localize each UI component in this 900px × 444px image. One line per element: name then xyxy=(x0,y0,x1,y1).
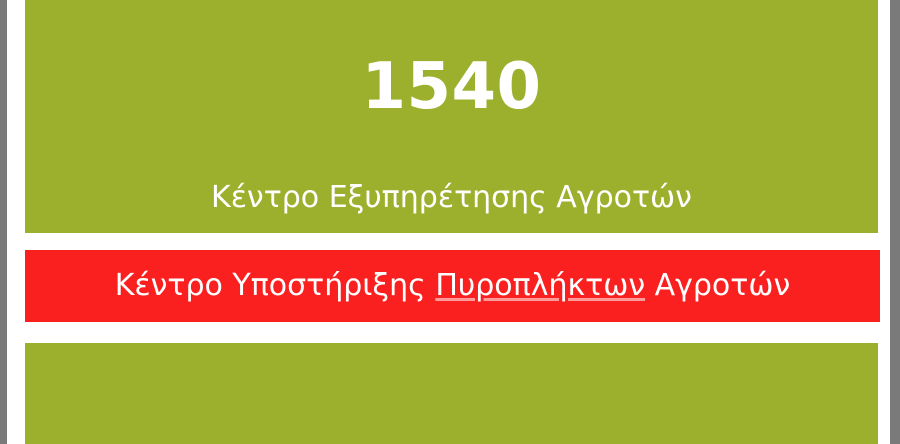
separator-below-alert xyxy=(25,322,878,343)
page-canvas: 1540 Κέντρο Εξυπηρέτησης Αγροτών Κέντρο … xyxy=(7,0,890,444)
hero-phone-number: 1540 xyxy=(361,47,541,127)
window-frame-rail-right[interactable] xyxy=(890,0,900,444)
lower-banner xyxy=(25,343,878,444)
alert-banner[interactable]: Κέντρο Υποστήριξης Πυροπλήκτων Αγροτών xyxy=(25,250,880,322)
separator-above-alert xyxy=(25,233,878,250)
alert-banner-link[interactable]: Πυροπλήκτων xyxy=(435,268,645,303)
hero-banner: 1540 Κέντρο Εξυπηρέτησης Αγροτών xyxy=(25,0,878,233)
window-frame-rail-left xyxy=(0,0,7,444)
hero-subtitle: Κέντρο Εξυπηρέτησης Αγροτών xyxy=(211,179,692,217)
alert-banner-text: Κέντρο Υποστήριξης Πυροπλήκτων Αγροτών xyxy=(115,267,790,305)
banner-stack: 1540 Κέντρο Εξυπηρέτησης Αγροτών Κέντρο … xyxy=(25,0,878,444)
alert-text-suffix: Αγροτών xyxy=(645,268,790,303)
alert-text-prefix: Κέντρο Υποστήριξης xyxy=(115,268,436,303)
